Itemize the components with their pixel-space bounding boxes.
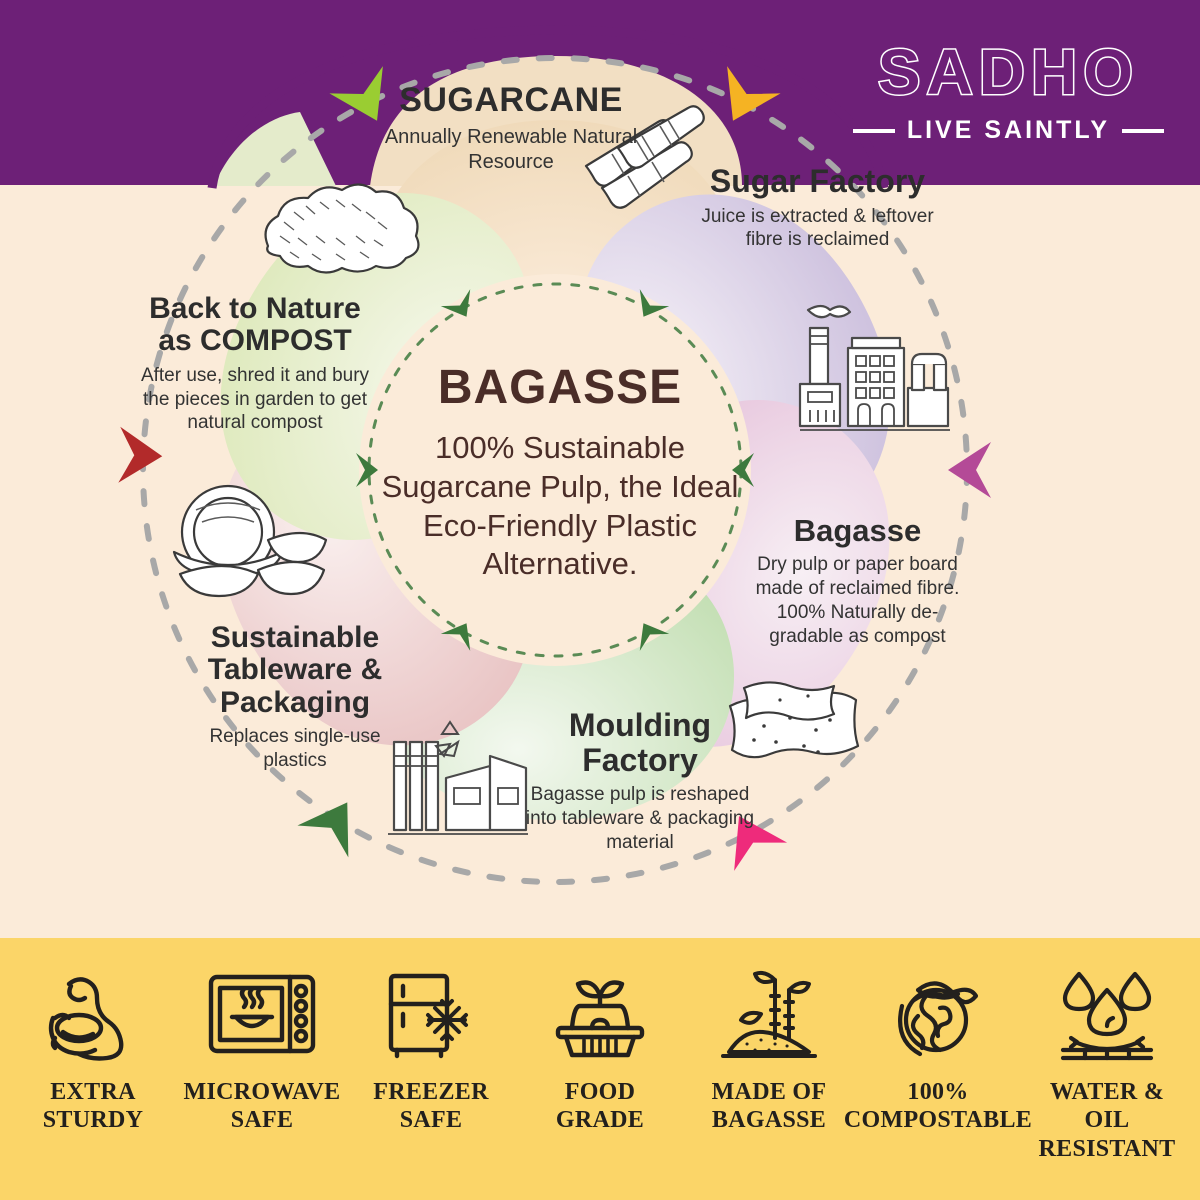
brand-logo: SADHO LIVE SAINTLY [853, 40, 1164, 145]
step-moulding-factory-description: Bagasse pulp is reshaped into tableware … [525, 783, 755, 854]
center-callout: BAGASSE 100% Sustainable Sugarcane Pulp,… [360, 360, 760, 584]
brand-tagline-row: LIVE SAINTLY [853, 116, 1164, 145]
tagline-rule-left [853, 129, 895, 133]
feature-made-of-bagasse-label: MADE OF BAGASSE [694, 1078, 844, 1135]
step-sustainable-tableware[interactable]: Sustainable Tableware & Packaging Replac… [195, 622, 395, 773]
step-sustainable-tableware-title: Sustainable Tableware & Packaging [195, 622, 395, 719]
refrigerator-snowflake-icon [385, 960, 477, 1068]
feature-freezer-safe-label: FREEZER SAFE [356, 1078, 506, 1135]
step-back-to-nature-description: After use, shred it and bury the pieces … [130, 364, 380, 435]
step-moulding-factory-title: Moulding Factory [525, 708, 755, 777]
microwave-icon [206, 960, 318, 1068]
feature-100-compostable[interactable]: 100% COMPOSTABLE [863, 960, 1013, 1135]
step-sugarcane-description: Annually Renewable Natural Resource [366, 125, 656, 175]
feature-extra-sturdy-label: EXTRA STURDY [18, 1078, 168, 1135]
step-bagasse-title: Bagasse [745, 514, 970, 547]
feature-food-grade-label: FOOD GRADE [525, 1078, 675, 1135]
step-moulding-factory[interactable]: Moulding Factory Bagasse pulp is reshape… [525, 708, 755, 854]
plates-bowls-icon [162, 478, 334, 608]
clamshell-container-leaf-icon [548, 960, 652, 1068]
step-sugarcane-title: SUGARCANE [366, 82, 656, 119]
step-sugar-factory[interactable]: Sugar Factory Juice is extracted & lefto… [700, 164, 935, 252]
feature-food-grade[interactable]: FOOD GRADE [525, 960, 675, 1135]
globe-leaves-icon [888, 960, 988, 1068]
feature-freezer-safe[interactable]: FREEZER SAFE [356, 960, 506, 1135]
feature-extra-sturdy[interactable]: EXTRA STURDY [18, 960, 168, 1135]
sugarcane-soil-icon [719, 960, 819, 1068]
step-bagasse-description: Dry pulp or paper board made of reclaime… [745, 553, 970, 648]
compost-heap-icon [250, 178, 430, 288]
center-title: BAGASSE [360, 360, 760, 415]
step-sugar-factory-title: Sugar Factory [700, 164, 935, 199]
step-sustainable-tableware-description: Replaces single-use plastics [195, 725, 395, 773]
feature-made-of-bagasse[interactable]: MADE OF BAGASSE [694, 960, 844, 1135]
tagline-rule-right [1122, 129, 1164, 133]
feature-microwave-safe-label: MICROWAVE SAFE [184, 1078, 341, 1135]
step-sugarcane[interactable]: SUGARCANE Annually Renewable Natural Res… [366, 82, 656, 175]
feature-microwave-safe[interactable]: MICROWAVE SAFE [187, 960, 337, 1135]
feature-100-compostable-label: 100% COMPOSTABLE [844, 1078, 1032, 1135]
step-back-to-nature-title: Back to Nature as COMPOST [130, 293, 380, 358]
step-bagasse[interactable]: Bagasse Dry pulp or paper board made of … [745, 514, 970, 648]
feature-water-oil-resistant-label: WATER & OIL RESISTANT [1032, 1078, 1182, 1163]
moulding-plant-icon [380, 716, 530, 846]
center-description: 100% Sustainable Sugarcane Pulp, the Ide… [360, 429, 760, 584]
feature-water-oil-resistant[interactable]: WATER & OIL RESISTANT [1032, 960, 1182, 1163]
step-sugar-factory-description: Juice is extracted & leftover fibre is r… [700, 205, 935, 253]
factory-icon [786, 302, 956, 437]
arrow-left-red-icon [118, 427, 163, 484]
flexed-bicep-icon [45, 960, 141, 1068]
brand-tagline: LIVE SAINTLY [907, 116, 1110, 145]
step-back-to-nature[interactable]: Back to Nature as COMPOST After use, shr… [130, 293, 380, 435]
brand-name: SADHO [853, 40, 1164, 104]
feature-strip: EXTRA STURDY MICROWAVE SAFE [0, 938, 1200, 1200]
water-droplets-surface-icon [1055, 960, 1159, 1068]
